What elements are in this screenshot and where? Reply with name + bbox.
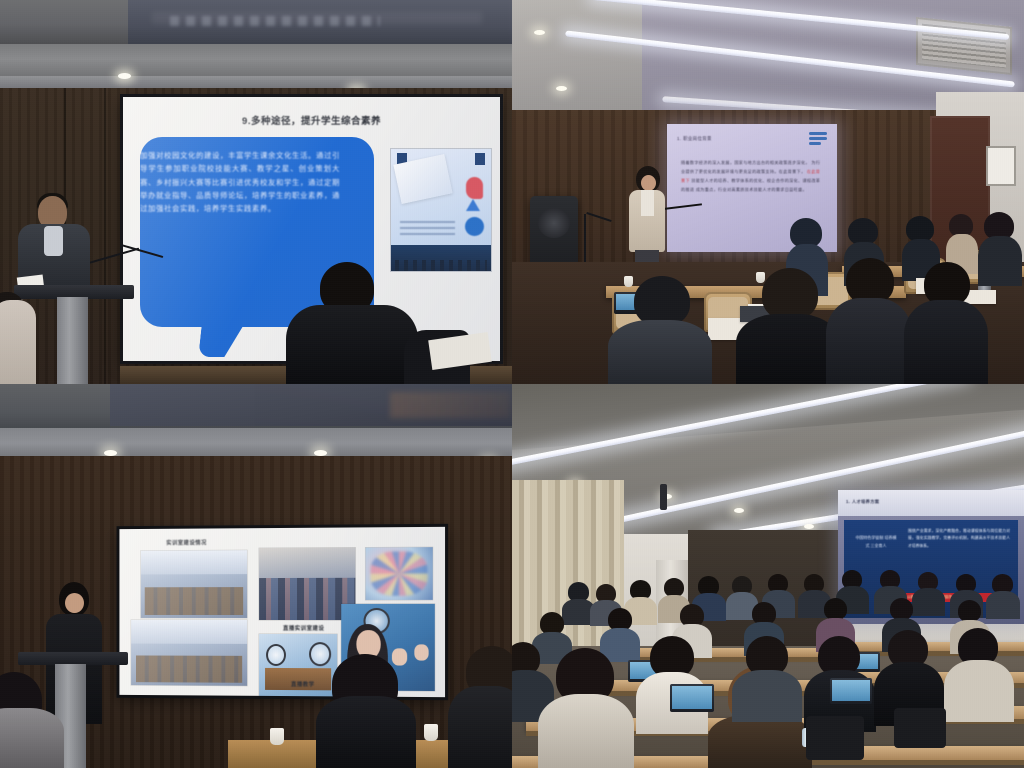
student-head — [958, 600, 981, 622]
text-lines-blur — [400, 221, 455, 237]
student-body — [538, 694, 634, 768]
panel-top-left-podium-presentation: 9.多种途径，提升学生综合素养 加强对校园文化的建设，丰富学生课余文化生活。通过… — [0, 0, 512, 384]
attendee-body — [608, 320, 712, 384]
spotlight-icon — [804, 524, 814, 529]
attendee-body — [904, 300, 988, 384]
laptop — [830, 678, 872, 704]
circle-shape — [465, 217, 484, 236]
wall-seam — [104, 88, 106, 384]
attendee — [608, 276, 712, 384]
ring-light-icon — [309, 642, 331, 666]
host-hand — [414, 644, 428, 660]
slide-embedded-photo — [391, 149, 491, 271]
slide-caption-middle: 直播实训室建设 — [283, 624, 324, 632]
attendee-body — [0, 708, 64, 768]
chair — [806, 716, 864, 760]
slide-header-text: 1. 人才培养方案 — [846, 499, 879, 505]
ring-light-icon — [266, 644, 286, 666]
attendee-head — [762, 268, 818, 320]
lectern-column — [57, 297, 88, 384]
student-body — [912, 588, 945, 616]
attendee-body — [448, 686, 512, 768]
slide-heading: 1. 职业岗位背景 — [677, 136, 712, 142]
student-body — [708, 714, 812, 768]
slide-line-4: 成为重点，行业对高素质技术技能人才的需求日益旺盛。 — [696, 187, 807, 192]
slide-line-1: 随着数字经济的深入发展，国家与地方出台的相关政策逐步深化， — [681, 160, 810, 165]
slide-logo-icon — [809, 132, 827, 150]
attendee-head — [634, 276, 690, 326]
slide-header-bar: 1. 人才培养方案 — [838, 490, 1024, 516]
student-body — [944, 660, 1014, 722]
wall-signage-blur — [170, 16, 380, 26]
speaker-shirt — [44, 226, 63, 256]
attendee-body — [316, 696, 416, 768]
photo-collage: 9.多种途径，提升学生综合素养 加强对校园文化的建设，丰富学生课余文化生活。通过… — [0, 0, 1024, 768]
slide-body-text: 随着数字经济的深入发展，国家与地方出台的相关政策逐步深化， 为行业提供了更优化的… — [681, 158, 823, 194]
attendee-body — [736, 314, 840, 384]
photo-training-room-2 — [131, 620, 247, 686]
spotlight-icon — [534, 30, 545, 35]
speech-bubble-tail — [198, 325, 243, 357]
presenter-face — [65, 593, 84, 613]
ceiling-projector — [660, 484, 667, 510]
attendee — [904, 262, 988, 384]
paper-cup — [424, 724, 438, 741]
photo-products — [365, 547, 432, 600]
red-shape — [466, 177, 483, 199]
spotlight-icon — [734, 508, 744, 513]
projection-screen: 实训室建设情况 直播实训室建设 直播教学 — [119, 527, 445, 697]
attendee-body — [826, 298, 912, 384]
attendee-body — [286, 305, 418, 384]
ceiling-glass-band — [110, 384, 512, 426]
slide-caption-top: 实训室建设情况 — [166, 538, 207, 546]
panel-bottom-left-collage-slide: 实训室建设情况 直播实训室建设 直播教学 — [0, 384, 512, 768]
downlight-icon — [118, 73, 131, 79]
chair — [894, 708, 946, 748]
attendee — [736, 268, 840, 384]
paper-cup — [270, 728, 284, 745]
city-skyline-graphic — [391, 245, 491, 271]
slide-right-column: 围绕产业需求，深化产教融合，推动课程体系与岗位能力对接，强化实践教学，完善评价机… — [908, 528, 1010, 550]
laptop — [670, 684, 714, 712]
photo-training-room — [141, 550, 247, 618]
spotlight-icon — [556, 86, 567, 91]
slide-caption-bottom: 直播教学 — [291, 680, 315, 688]
presenter-face — [641, 175, 656, 191]
panel-top-right-meeting-room: 1. 职业岗位背景 随着数字经济的深入发展，国家与地方出台的相关政策逐步深化， … — [512, 0, 1024, 384]
slide-left-column: 中国特色学徒制 培养模式 三全育人 — [854, 534, 898, 550]
slide-bubble-text: 加强对校园文化的建设，丰富学生课余文化生活。通过引导学生参加职业院校技能大赛、教… — [140, 149, 340, 215]
student-body — [732, 670, 802, 722]
left-person-body — [0, 300, 36, 384]
attendee-head — [848, 218, 878, 245]
presenter-scarf — [641, 190, 654, 216]
triangle-shape — [466, 199, 480, 211]
attendee — [826, 258, 912, 384]
student-head — [824, 598, 847, 620]
host-hand — [392, 648, 407, 665]
student-head — [890, 598, 913, 620]
slide-title: 9.多种途径，提升学生综合素养 — [123, 113, 500, 127]
student-body — [986, 591, 1020, 619]
wall-frame — [988, 148, 1014, 184]
panel-bottom-right-lecture-hall: 1. 人才培养方案 中国特色学徒制 培养模式 三全育人 围绕产业需求，深化产教融… — [512, 384, 1024, 768]
